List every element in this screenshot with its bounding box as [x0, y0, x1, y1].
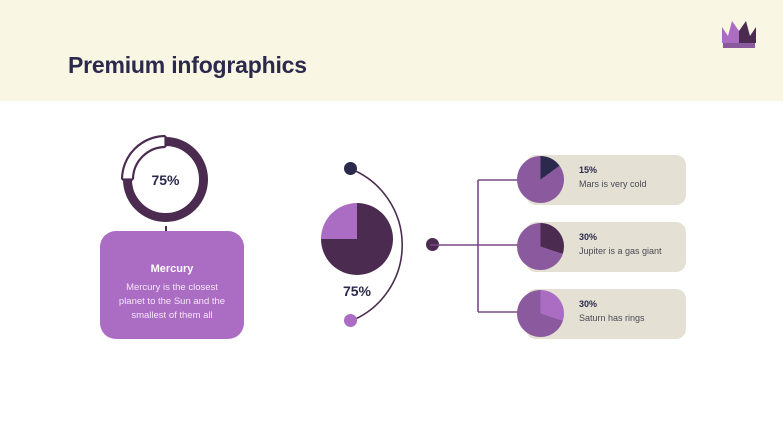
bracket-connector	[430, 160, 530, 335]
header-band	[0, 0, 783, 101]
fact-pie-chart-mars	[517, 156, 564, 203]
fact-pie-chart-jupiter	[517, 223, 564, 270]
bottom-node-dot	[344, 314, 357, 327]
donut-chart-mercury: 75%	[119, 133, 212, 226]
fact-percent-label: 15%	[579, 164, 686, 177]
slide-canvas: Premium infographics 75% Mercury Mercury…	[0, 0, 783, 440]
fact-description: Mars is very cold	[579, 177, 686, 192]
mercury-info-card[interactable]: Mercury Mercury is the closest planet to…	[100, 231, 244, 339]
fact-percent-label: 30%	[579, 231, 686, 244]
crown-icon	[721, 18, 757, 50]
fact-percent-label: 30%	[579, 298, 686, 311]
mercury-card-title: Mercury	[114, 263, 230, 275]
top-node-dot	[344, 162, 357, 175]
fact-pie-chart-saturn	[517, 290, 564, 337]
mercury-card-description: Mercury is the closest planet to the Sun…	[114, 281, 230, 323]
fact-description: Saturn has rings	[579, 311, 686, 326]
center-pie-value-label: 75%	[321, 283, 393, 299]
fact-description: Jupiter is a gas giant	[579, 244, 686, 259]
center-pie-chart	[321, 203, 393, 275]
donut-value-label: 75%	[119, 133, 212, 226]
page-title: Premium infographics	[68, 52, 307, 79]
